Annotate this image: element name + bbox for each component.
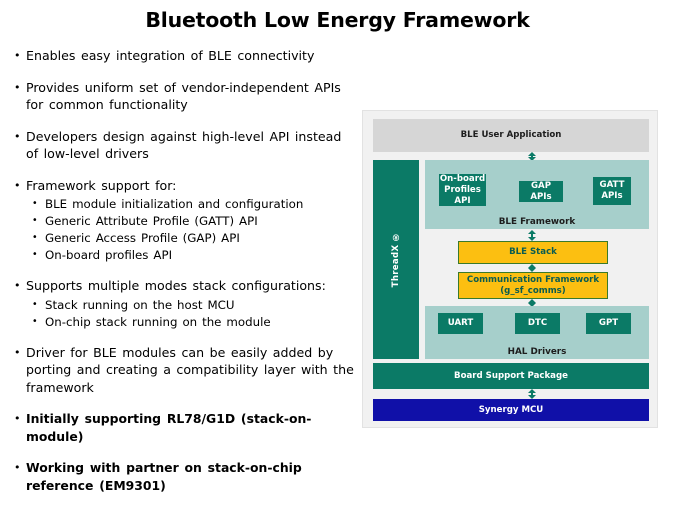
- bullet-item: •Developers design against high-level AP…: [10, 128, 355, 163]
- block-gpt: GPT: [586, 313, 631, 334]
- block-ble-stack: BLE Stack: [458, 241, 608, 264]
- bullet-marker-icon: •: [10, 410, 26, 427]
- bullet-marker-icon: •: [10, 47, 26, 64]
- ble-architecture-diagram: BLE User Application ThreadX ® On-board …: [362, 110, 658, 428]
- sub-bullet-item: •BLE module initialization and configura…: [32, 196, 355, 212]
- block-uart: UART: [438, 313, 483, 334]
- bullet-group: •Enables easy integration of BLE connect…: [10, 47, 355, 65]
- sub-bullet-item: •On-board profiles API: [32, 247, 355, 263]
- arrow-stack-to-comms-icon: [527, 264, 536, 272]
- sub-bullet-item: •Stack running on the host MCU: [32, 297, 355, 313]
- bullet-marker-icon: •: [10, 277, 26, 294]
- arrow-framework-to-stack-icon: [527, 230, 536, 241]
- sub-bullet-text: Generic Access Profile (GAP) API: [45, 230, 355, 246]
- sub-bullet-text: Generic Attribute Profile (GATT) API: [45, 213, 355, 229]
- block-threadx: ThreadX ®: [373, 160, 419, 359]
- sub-bullet-marker-icon: •: [32, 297, 45, 313]
- bullet-marker-icon: •: [10, 79, 26, 96]
- sub-bullet-text: On-chip stack running on the module: [45, 314, 355, 330]
- sub-bullet-item: •On-chip stack running on the module: [32, 314, 355, 330]
- bullet-text: Driver for BLE modules can be easily add…: [26, 344, 355, 397]
- bullet-group: •Developers design against high-level AP…: [10, 128, 355, 163]
- sub-bullet-list: •Stack running on the host MCU•On-chip s…: [10, 297, 355, 330]
- bullet-text: Working with partner on stack-on-chip re…: [26, 459, 355, 494]
- sub-bullet-marker-icon: •: [32, 213, 45, 229]
- block-communication-framework: Communication Framework (g_sf_comms): [458, 272, 608, 299]
- bullet-item: •Provides uniform set of vendor-independ…: [10, 79, 355, 114]
- bullet-group: •Initially supporting RL78/G1D (stack-on…: [10, 410, 355, 445]
- bullet-text: Supports multiple modes stack configurat…: [26, 277, 355, 295]
- block-synergy-mcu: Synergy MCU: [373, 399, 649, 421]
- block-onboard-profiles-api: On-board Profiles API: [439, 174, 486, 206]
- bullet-group: •Framework support for:•BLE module initi…: [10, 177, 355, 264]
- bullet-text: Developers design against high-level API…: [26, 128, 355, 163]
- bullet-group: •Supports multiple modes stack configura…: [10, 277, 355, 330]
- bullet-item: •Working with partner on stack-on-chip r…: [10, 459, 355, 494]
- bullet-text: Enables easy integration of BLE connecti…: [26, 47, 355, 65]
- bullet-item: •Enables easy integration of BLE connect…: [10, 47, 355, 65]
- sub-bullet-text: On-board profiles API: [45, 247, 355, 263]
- bullet-item: •Driver for BLE modules can be easily ad…: [10, 344, 355, 397]
- sub-bullet-item: •Generic Access Profile (GAP) API: [32, 230, 355, 246]
- bullet-marker-icon: •: [10, 128, 26, 145]
- sub-bullet-marker-icon: •: [32, 196, 45, 212]
- communication-framework-line2: (g_sf_comms): [500, 286, 565, 297]
- hal-drivers-label: HAL Drivers: [425, 347, 649, 357]
- sub-bullet-list: •BLE module initialization and configura…: [10, 196, 355, 263]
- block-hal-drivers-container: UART DTC GPT HAL Drivers: [425, 306, 649, 359]
- sub-bullet-marker-icon: •: [32, 247, 45, 263]
- bullet-item: •Framework support for:: [10, 177, 355, 195]
- block-board-support-package: Board Support Package: [373, 363, 649, 389]
- bullet-text: Initially supporting RL78/G1D (stack-on-…: [26, 410, 355, 445]
- bullet-group: •Driver for BLE modules can be easily ad…: [10, 344, 355, 397]
- page-title: Bluetooth Low Energy Framework: [0, 8, 675, 32]
- sub-bullet-marker-icon: •: [32, 314, 45, 330]
- threadx-label: ThreadX ®: [391, 231, 402, 287]
- ble-framework-label: BLE Framework: [425, 217, 649, 227]
- sub-bullet-text: BLE module initialization and configurat…: [45, 196, 355, 212]
- block-gatt-apis: GATT APIs: [593, 177, 631, 205]
- bullet-item: •Supports multiple modes stack configura…: [10, 277, 355, 295]
- bullet-group: •Working with partner on stack-on-chip r…: [10, 459, 355, 494]
- bullet-marker-icon: •: [10, 459, 26, 476]
- block-ble-framework-container: On-board Profiles API GAP APIs GATT APIs…: [425, 160, 649, 229]
- bullet-item: •Initially supporting RL78/G1D (stack-on…: [10, 410, 355, 445]
- arrow-bsp-to-mcu-icon: [527, 389, 536, 399]
- sub-bullet-item: •Generic Attribute Profile (GATT) API: [32, 213, 355, 229]
- bullet-text: Provides uniform set of vendor-independe…: [26, 79, 355, 114]
- bullet-list: •Enables easy integration of BLE connect…: [10, 47, 355, 508]
- block-ble-user-application: BLE User Application: [373, 119, 649, 152]
- bullet-marker-icon: •: [10, 344, 26, 361]
- bullet-text: Framework support for:: [26, 177, 355, 195]
- sub-bullet-marker-icon: •: [32, 230, 45, 246]
- block-dtc: DTC: [515, 313, 560, 334]
- sub-bullet-text: Stack running on the host MCU: [45, 297, 355, 313]
- bullet-marker-icon: •: [10, 177, 26, 194]
- communication-framework-line1: Communication Framework: [467, 275, 599, 286]
- bullet-group: •Provides uniform set of vendor-independ…: [10, 79, 355, 114]
- block-gap-apis: GAP APIs: [519, 181, 563, 202]
